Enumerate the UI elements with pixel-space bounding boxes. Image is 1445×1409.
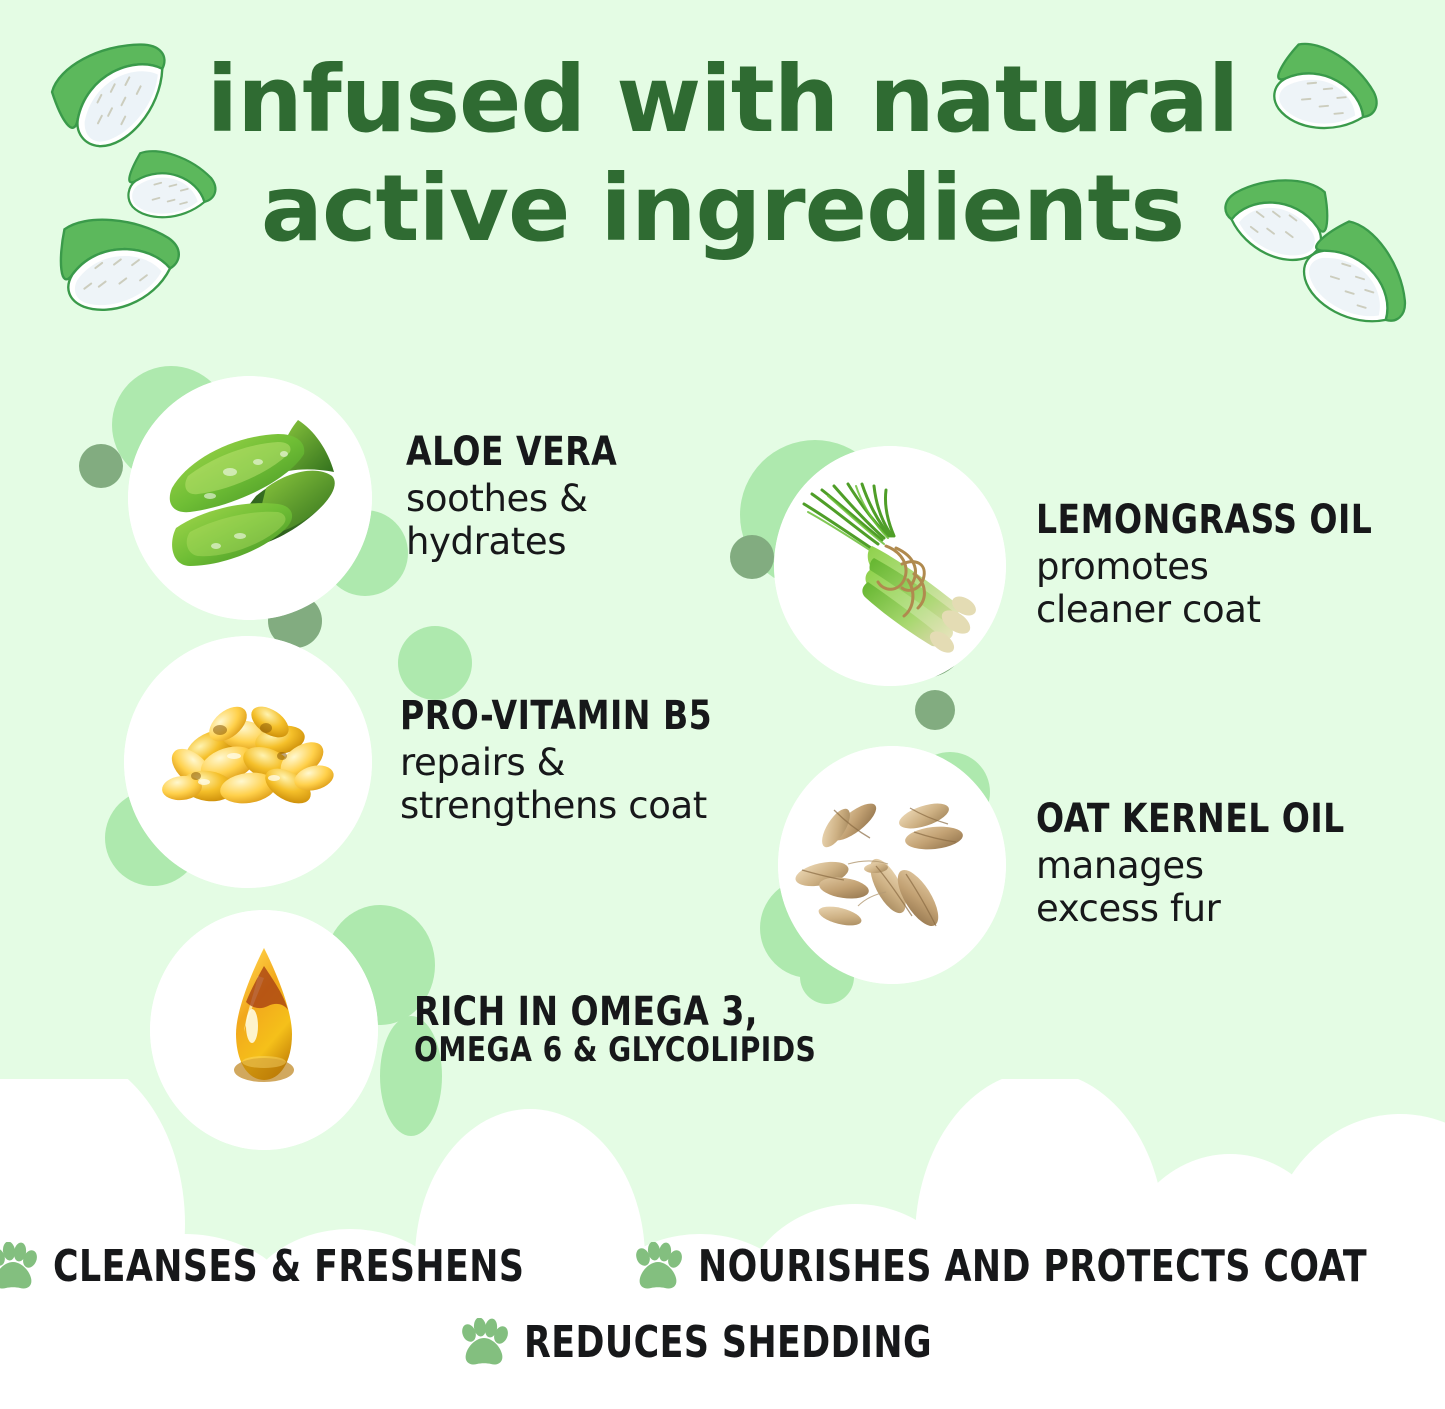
ingredient-card-oat-kernel-oil: OAT KERNEL OIL manages excess fur (778, 746, 1372, 984)
paw-print-icon (458, 1318, 510, 1368)
aloe-vera-leaves-photo (128, 376, 372, 620)
benefit-item: NOURISHES AND PROTECTS COAT (632, 1242, 1445, 1292)
ingredient-text-aloe-vera: ALOE VERA soothes & hydrates (406, 432, 636, 564)
ingredient-card-pro-vitamin-b5: PRO-VITAMIN B5 repairs & strengthens coa… (124, 636, 739, 888)
benefits-row-2: REDUCES SHEDDING (0, 1318, 1445, 1368)
ingredient-desc-line: manages (1036, 844, 1372, 888)
ingredient-name-line: RICH IN OMEGA 3, (414, 992, 816, 1033)
ingredient-desc-line: hydrates (406, 520, 636, 564)
ingredient-name: PRO-VITAMIN B5 (400, 696, 712, 737)
ingredient-text-pro-vitamin-b5: PRO-VITAMIN B5 repairs & strengthens coa… (400, 696, 739, 828)
ingredient-text-oat-kernel-oil: OAT KERNEL OIL manages excess fur (1036, 799, 1372, 931)
ingredient-desc-line: strengthens coat (400, 784, 739, 828)
paw-print-icon (632, 1242, 684, 1292)
ingredient-desc-line: soothes & (406, 477, 636, 521)
decor-blob-sage-1 (79, 444, 123, 488)
benefit-label: REDUCES SHEDDING (524, 1321, 932, 1365)
ingredient-desc-line: excess fur (1036, 887, 1372, 931)
ingredient-name: ALOE VERA (406, 432, 617, 473)
ingredient-text-omega: RICH IN OMEGA 3, OMEGA 6 & GLYCOLIPIDS (414, 992, 851, 1067)
ingredient-description: repairs & strengthens coat (400, 741, 739, 828)
benefits-section: CLEANSES & FRESHENS NOURISHES AND PRO (0, 1234, 1445, 1409)
ingredient-name-line: OMEGA 6 & GLYCOLIPIDS (414, 1033, 816, 1068)
gel-capsules-photo (124, 636, 372, 888)
ingredient-text-lemongrass-oil: LEMONGRASS OIL promotes cleaner coat (1036, 500, 1402, 632)
ingredient-name: OAT KERNEL OIL (1036, 799, 1345, 840)
decor-blob-sage-6 (915, 690, 955, 730)
title-line-1: infused with natural (0, 46, 1445, 155)
ingredient-desc-line: repairs & (400, 741, 739, 785)
ingredient-description: manages excess fur (1036, 844, 1372, 931)
ingredient-card-lemongrass-oil: LEMONGRASS OIL promotes cleaner coat (774, 446, 1402, 686)
page-title: infused with natural active ingredients (0, 46, 1445, 263)
ingredient-desc-line: cleaner coat (1036, 588, 1402, 632)
ingredient-name: LEMONGRASS OIL (1036, 500, 1372, 541)
ingredient-card-aloe-vera: ALOE VERA soothes & hydrates (128, 376, 636, 620)
benefit-item: CLEANSES & FRESHENS (0, 1242, 588, 1292)
benefit-item: REDUCES SHEDDING (458, 1318, 988, 1368)
ingredient-description: promotes cleaner coat (1036, 545, 1402, 632)
benefit-label: NOURISHES AND PROTECTS COAT (698, 1245, 1367, 1289)
oat-kernels-photo (778, 746, 1006, 984)
decor-blob-sage-4 (730, 535, 774, 579)
benefit-label: CLEANSES & FRESHENS (53, 1245, 524, 1289)
paw-print-icon (0, 1242, 39, 1292)
ingredient-desc-line: promotes (1036, 545, 1402, 589)
ingredient-description: soothes & hydrates (406, 477, 636, 564)
ingredient-name: RICH IN OMEGA 3, OMEGA 6 & GLYCOLIPIDS (414, 992, 816, 1067)
benefits-row-1: CLEANSES & FRESHENS NOURISHES AND PRO (0, 1242, 1445, 1292)
lemongrass-bundle-photo (774, 446, 1006, 686)
title-line-2: active ingredients (0, 155, 1445, 264)
infographic-page: infused with natural active ingredients (0, 0, 1445, 1409)
